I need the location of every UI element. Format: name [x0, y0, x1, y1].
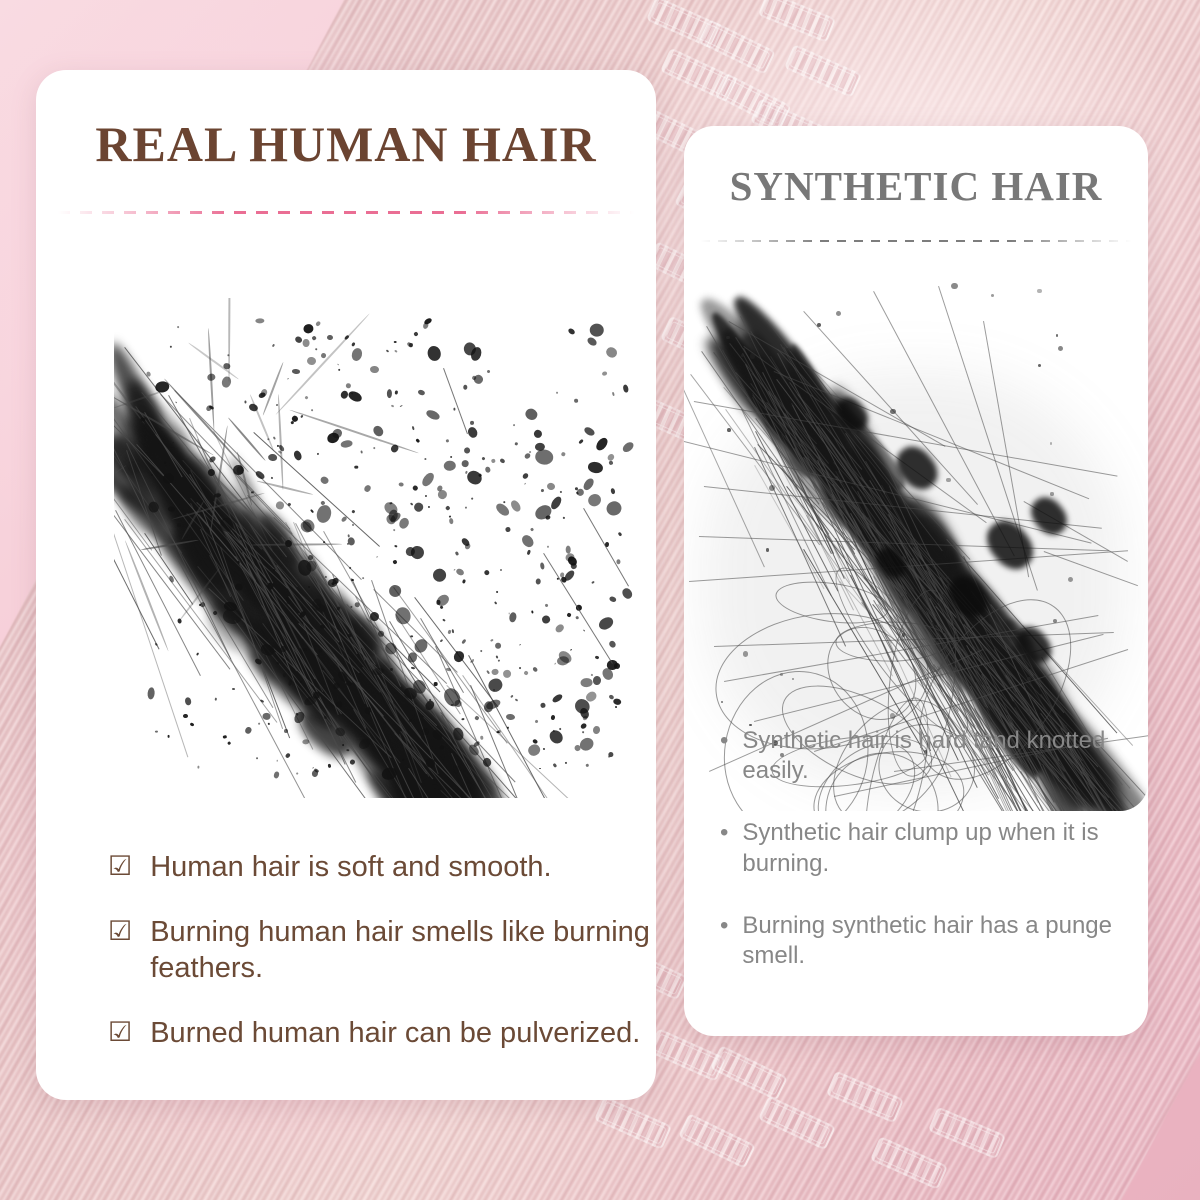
ash-speck: [594, 656, 599, 660]
ash-speck: [580, 722, 588, 730]
ash-speck: [605, 500, 624, 518]
list-item: •Burning synthetic hair has a punge smel…: [720, 911, 1120, 971]
ash-speck: [418, 389, 426, 396]
ash-speck: [327, 335, 333, 340]
bullet-dot-icon: •: [720, 726, 728, 756]
ash-speck: [587, 461, 603, 474]
fibre-speck: [1027, 677, 1031, 681]
left-card-photo-burned-human-hair: [114, 298, 654, 798]
ash-speck: [559, 727, 562, 730]
ash-speck: [215, 697, 218, 701]
ash-speck: [351, 510, 354, 513]
ash-speck: [470, 421, 474, 425]
ash-speck: [287, 378, 289, 380]
ash-speck: [268, 454, 278, 462]
ash-speck: [227, 742, 231, 746]
ash-speck: [319, 476, 329, 486]
ash-speck: [420, 471, 436, 488]
ash-speck: [507, 726, 509, 729]
right-card-divider: [701, 240, 1131, 242]
ash-speck: [592, 725, 600, 734]
ash-speck: [496, 643, 502, 649]
ash-speck: [463, 385, 467, 390]
ash-speck: [608, 460, 613, 465]
ash-speck: [410, 666, 414, 669]
ash-speck: [392, 529, 395, 532]
fibre-speck: [743, 651, 748, 656]
list-item-label: Synthetic hair clump up when it is burni…: [742, 818, 1120, 878]
ash-speck: [465, 507, 467, 509]
ash-speck: [471, 497, 474, 500]
ash-speck: [232, 688, 235, 690]
ash-speck: [307, 356, 318, 366]
ash-speck: [583, 629, 585, 631]
ash-speck: [566, 613, 572, 619]
ash-speck: [292, 369, 301, 375]
ash-speck: [376, 556, 378, 558]
ash-speck: [453, 407, 455, 410]
ash-speck: [505, 526, 512, 532]
fibre-speck: [780, 673, 783, 676]
ash-speck: [411, 426, 414, 430]
ash-speck: [394, 341, 397, 343]
fibre-speck: [750, 353, 755, 358]
ash-speck: [597, 615, 615, 632]
ash-speck: [317, 453, 319, 455]
ash-speck: [283, 673, 286, 677]
ash-speck: [226, 354, 229, 357]
ash-speck: [583, 425, 596, 436]
ash-speck: [576, 616, 580, 620]
ash-speck: [541, 615, 552, 625]
ash-speck: [337, 364, 340, 366]
ash-speck: [303, 339, 310, 347]
ash-speck: [483, 569, 490, 576]
right-card-title: SYNTHETIC HAIR: [684, 166, 1148, 207]
ash-speck: [424, 458, 426, 460]
ash-speck: [519, 644, 521, 646]
ash-speck: [184, 696, 192, 705]
ash-speck: [305, 396, 309, 400]
ash-speck: [522, 472, 530, 480]
ash-speck: [462, 718, 465, 721]
ash-speck: [310, 409, 313, 412]
ash-speck: [425, 408, 441, 421]
ash-speck: [392, 560, 397, 565]
ash-speck: [308, 555, 313, 560]
ash-speck: [615, 706, 618, 708]
fibre-speck: [979, 681, 982, 684]
ash-speck: [413, 331, 418, 336]
ash-speck: [574, 399, 579, 403]
ash-speck: [370, 365, 380, 373]
hair-strand-isolated: [583, 508, 629, 586]
ash-speck: [244, 401, 246, 404]
ash-speck: [510, 498, 523, 512]
fibre-speck: [1053, 619, 1057, 623]
ash-speck: [362, 577, 364, 579]
ash-speck: [302, 739, 310, 745]
ash-speck: [352, 523, 355, 526]
ash-speck: [363, 484, 372, 493]
ash-speck: [452, 568, 455, 571]
ash-speck: [428, 505, 430, 507]
ash-speck: [147, 687, 155, 700]
ash-speck: [547, 545, 549, 547]
bullet-dot-icon: •: [720, 818, 728, 848]
ash-speck: [273, 569, 276, 572]
fibre-speck: [946, 576, 949, 579]
ash-speck: [461, 638, 467, 644]
ash-speck: [514, 442, 518, 445]
ash-speck: [554, 662, 556, 664]
ash-speck: [622, 384, 628, 393]
ash-speck: [436, 600, 440, 605]
ash-speck: [270, 477, 273, 480]
ash-speck: [484, 466, 491, 473]
ash-speck: [620, 440, 635, 454]
ash-speck: [258, 723, 261, 726]
ash-speck: [314, 348, 317, 350]
ash-speck: [617, 531, 622, 536]
ash-speck: [348, 634, 352, 638]
list-item-label: Burning synthetic hair has a punge smell…: [742, 911, 1120, 971]
ash-speck: [531, 611, 533, 614]
fibre-speck: [817, 323, 821, 327]
ash-speck: [345, 383, 351, 389]
ash-speck: [351, 342, 356, 347]
ash-speck: [520, 533, 536, 549]
ash-speck: [496, 655, 499, 658]
hair-strand-isolated: [543, 553, 613, 664]
list-item: ☑Human hair is soft and smooth.: [108, 850, 656, 885]
ash-speck: [448, 518, 453, 525]
ash-speck: [447, 630, 451, 635]
ash-speck: [475, 715, 480, 720]
ash-speck: [354, 466, 358, 469]
ash-speck: [556, 391, 558, 394]
ash-speck: [554, 623, 566, 635]
ash-speck: [177, 326, 180, 329]
list-item-label: Human hair is soft and smooth.: [150, 850, 551, 885]
ash-speck: [293, 449, 303, 461]
ash-speck: [355, 602, 360, 607]
ash-speck: [319, 649, 322, 652]
ash-speck: [524, 670, 530, 676]
fibre-speck: [727, 428, 731, 432]
ash-speck: [546, 482, 556, 491]
ash-speck: [167, 735, 170, 738]
ash-speck: [511, 694, 514, 697]
ash-speck: [155, 731, 158, 733]
ash-speck: [400, 405, 403, 408]
ash-speck: [556, 655, 569, 666]
ash-speck: [224, 362, 231, 369]
ash-speck: [532, 428, 543, 439]
ash-speck: [561, 451, 566, 456]
card-real-human-hair: REAL HUMAN HAIR ☑Human hair is soft and …: [36, 70, 656, 1100]
left-card-bullet-list: ☑Human hair is soft and smooth.☑Burning …: [108, 850, 656, 1082]
ash-speck: [500, 569, 502, 571]
ash-speck: [285, 752, 291, 758]
ash-speck: [579, 439, 584, 444]
ash-speck: [621, 586, 634, 600]
ash-speck: [341, 439, 354, 448]
ash-speck: [527, 742, 542, 757]
ash-speck: [310, 509, 314, 513]
ash-speck: [236, 466, 243, 475]
ash-speck: [273, 771, 280, 779]
ash-speck: [221, 375, 232, 388]
ash-speck: [351, 579, 354, 581]
fibre-speck: [851, 429, 857, 435]
ash-speck: [409, 502, 413, 506]
ash-speck: [539, 768, 541, 769]
ash-speck: [175, 401, 178, 404]
ash-speck: [412, 484, 419, 491]
ash-speck: [189, 722, 194, 727]
fibre-speck: [726, 336, 729, 339]
ash-speck: [593, 675, 601, 685]
ash-speck: [485, 698, 502, 712]
fibre-speck: [1058, 346, 1063, 351]
ash-speck: [512, 424, 515, 427]
ash-speck: [446, 439, 450, 443]
ash-speck: [605, 345, 619, 359]
ash-speck: [553, 763, 557, 768]
ash-speck: [514, 698, 517, 701]
ash-speck: [347, 537, 356, 547]
ash-speck: [536, 579, 542, 586]
ash-speck: [567, 327, 576, 335]
ash-speck: [612, 391, 615, 396]
hair-wisp: [256, 480, 313, 496]
ash-speck: [350, 347, 363, 362]
ash-speck: [254, 469, 266, 480]
checkbox-checked-icon: ☑: [108, 915, 132, 949]
ash-speck: [532, 667, 538, 674]
ash-speck: [140, 417, 145, 422]
ash-speck: [610, 487, 615, 494]
ash-speck: [551, 715, 556, 721]
ash-speck: [426, 345, 442, 362]
ash-speck: [272, 343, 276, 347]
fibre-speck: [1056, 334, 1058, 336]
list-item-label: Burned human hair can be pulverized.: [150, 1016, 640, 1051]
ash-speck: [415, 438, 420, 443]
ash-speck: [479, 650, 482, 653]
ash-speck: [450, 455, 452, 457]
ash-speck: [586, 492, 603, 509]
ash-speck: [500, 458, 506, 464]
ash-speck: [407, 341, 414, 348]
ash-speck: [290, 421, 294, 425]
ash-speck: [339, 390, 349, 401]
list-item: ☑Burning human hair smells like burning …: [108, 915, 656, 986]
ash-speck: [341, 516, 348, 523]
ash-speck: [315, 503, 333, 524]
ash-speck: [347, 534, 349, 538]
left-card-title: REAL HUMAN HAIR: [36, 119, 656, 169]
fibre-speck: [1038, 364, 1042, 368]
ash-speck: [434, 682, 438, 686]
ash-speck: [328, 764, 332, 768]
ash-speck: [412, 501, 424, 513]
right-card-bullet-list: •Synthetic hair is hard tand knotted eas…: [720, 726, 1120, 1003]
fibre-speck: [991, 294, 994, 297]
ash-speck: [311, 335, 317, 341]
ash-speck: [255, 318, 264, 324]
ash-speck: [463, 446, 470, 454]
list-item: ☑Burned human hair can be pulverized.: [108, 1016, 656, 1051]
ash-speck: [578, 735, 596, 753]
ash-speck: [146, 371, 152, 377]
ash-speck: [531, 527, 535, 531]
ash-speck: [206, 373, 215, 381]
ash-speck: [616, 559, 621, 564]
ash-speck: [398, 517, 411, 530]
ash-speck: [519, 667, 522, 670]
ash-speck: [462, 459, 469, 466]
left-card-divider: [58, 211, 634, 214]
ash-speck: [608, 755, 611, 758]
fibre-speck: [890, 713, 896, 719]
ash-speck: [498, 660, 500, 662]
ash-speck: [614, 662, 621, 669]
ash-speck: [505, 714, 515, 721]
infographic-canvas: REAL HUMAN HAIR ☑Human hair is soft and …: [0, 0, 1200, 1200]
bullet-dot-icon: •: [720, 911, 728, 941]
ash-speck: [442, 618, 445, 621]
list-item-label: Synthetic hair is hard tand knotted easi…: [742, 726, 1120, 786]
ash-speck: [529, 450, 532, 453]
ash-speck: [451, 629, 454, 633]
ash-speck: [455, 551, 459, 556]
ash-speck: [273, 436, 276, 439]
ash-speck: [394, 391, 398, 396]
fibre-speck: [766, 548, 770, 552]
ash-speck: [391, 404, 395, 407]
ash-speck: [493, 502, 510, 519]
ash-speck: [385, 349, 389, 352]
ash-speck: [592, 581, 596, 584]
ash-speck: [256, 757, 258, 759]
hair-wisp: [228, 298, 231, 382]
ash-speck: [399, 482, 405, 487]
ash-speck: [563, 516, 566, 519]
list-item: •Synthetic hair clump up when it is burn…: [720, 818, 1120, 878]
ash-speck: [387, 389, 392, 398]
hair-wisp: [289, 409, 419, 454]
ash-speck: [262, 713, 271, 720]
ash-speck: [294, 335, 303, 343]
ash-speck: [244, 726, 253, 735]
ash-speck: [466, 426, 479, 440]
ash-speck: [300, 681, 302, 683]
ash-speck: [487, 677, 505, 695]
ash-speck: [503, 669, 511, 677]
ash-speck: [582, 476, 596, 491]
ash-speck: [581, 678, 593, 688]
ash-speck: [268, 723, 270, 726]
ash-speck: [602, 371, 608, 376]
ash-speck: [440, 639, 443, 642]
ash-speck: [223, 735, 227, 739]
ash-speck: [560, 490, 563, 493]
ash-speck: [502, 501, 505, 503]
ash-speck: [545, 603, 549, 607]
ash-speck: [526, 549, 531, 555]
ash-speck: [341, 744, 344, 747]
ash-speck: [296, 773, 299, 776]
ash-speck: [394, 545, 397, 548]
ash-speck: [487, 370, 491, 374]
ash-speck: [164, 461, 166, 463]
fibre-speck: [1037, 289, 1041, 293]
fibre-speck: [1068, 577, 1073, 582]
ash-speck: [551, 693, 563, 704]
ash-speck: [347, 390, 364, 405]
ash-speck: [344, 334, 350, 340]
ash-speck: [196, 652, 199, 656]
ash-speck: [493, 601, 497, 605]
fibre-speck: [836, 311, 841, 316]
ash-speck: [170, 346, 172, 348]
ash-speck: [547, 728, 566, 747]
ash-speck: [462, 579, 466, 584]
ash-speck: [346, 749, 349, 751]
ash-speck: [540, 702, 546, 708]
fibre-speck: [946, 478, 950, 482]
ash-speck: [486, 670, 490, 675]
ash-speck: [586, 336, 598, 348]
ash-speck: [496, 590, 499, 593]
hair-strand-isolated: [443, 368, 468, 434]
ash-speck: [260, 388, 269, 398]
ash-speck: [564, 761, 567, 764]
ash-speck: [523, 406, 539, 421]
ash-speck: [276, 760, 278, 762]
ash-speck: [316, 321, 322, 327]
ash-speck: [199, 601, 205, 607]
ash-speck: [338, 369, 340, 371]
checkbox-checked-icon: ☑: [108, 850, 132, 884]
ash-speck: [373, 446, 376, 449]
ash-speck: [177, 619, 182, 625]
ash-speck: [524, 482, 526, 484]
ash-speck: [570, 649, 572, 651]
ash-speck: [197, 766, 199, 769]
list-item-label: Burning human hair smells like burning f…: [150, 915, 656, 986]
ash-speck: [589, 324, 603, 337]
ash-speck: [608, 640, 617, 649]
ash-speck: [585, 764, 588, 767]
ash-speck: [445, 505, 450, 510]
ash-speck: [534, 720, 538, 724]
fibre-speck: [1050, 492, 1053, 495]
ash-speck: [301, 414, 304, 417]
ash-speck: [491, 668, 498, 675]
ash-speck: [154, 380, 169, 393]
ash-speck: [425, 495, 427, 497]
ash-speck: [542, 748, 544, 750]
ash-speck: [332, 578, 338, 584]
ash-speck: [591, 674, 594, 676]
ash-speck: [509, 611, 517, 622]
ash-speck: [360, 451, 363, 454]
ash-speck: [595, 436, 610, 452]
ash-speck: [347, 543, 349, 545]
